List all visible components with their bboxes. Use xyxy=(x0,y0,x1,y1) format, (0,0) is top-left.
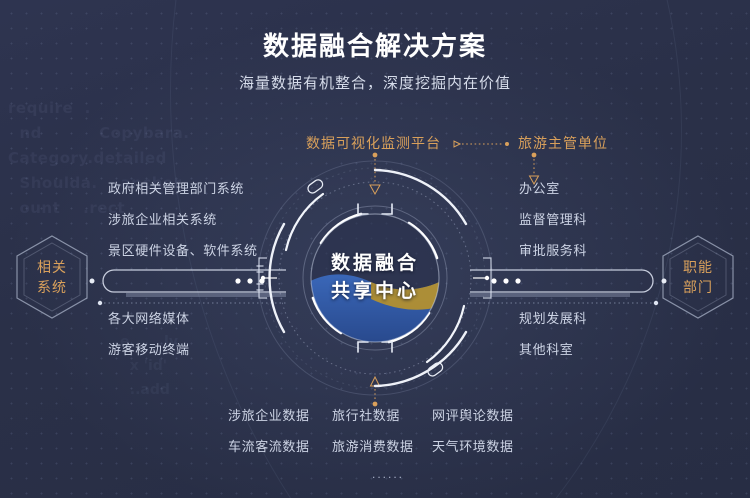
hexagon-functional-departments[interactable]: 职能 部门 xyxy=(660,234,736,320)
label-visualization-platform: 数据可视化监测平台 xyxy=(306,133,441,153)
data-row: 车流客流数据 旅游消费数据 天气环境数据 xyxy=(228,436,528,455)
right-departments-list-top: 办公室 监督管理科 审批服务科 xyxy=(519,178,587,271)
data-row: 涉旅企业数据 旅行社数据 网评舆论数据 xyxy=(228,405,528,424)
list-item: 其他科室 xyxy=(519,339,587,358)
left-systems-list-bottom: 各大网络媒体 游客移动终端 xyxy=(108,308,190,370)
right-departments-list-bottom: 规划发展科 其他科室 xyxy=(519,308,587,370)
data-cell: 车流客流数据 xyxy=(228,436,324,455)
list-item: 各大网络媒体 xyxy=(108,308,190,327)
infographic-canvas: require . nd Copybara. Category.detailed… xyxy=(0,0,750,498)
list-item: 规划发展科 xyxy=(519,308,587,327)
hexagon-left-line1: 相关 xyxy=(37,257,67,277)
data-ellipsis: ...... xyxy=(228,467,528,481)
hexagon-related-systems[interactable]: 相关 系统 xyxy=(14,234,90,320)
hub-label-line2: 共享中心 xyxy=(331,278,419,306)
label-tourism-authority: 旅游主管单位 xyxy=(518,133,608,153)
list-item: 政府相关管理部门系统 xyxy=(108,178,258,197)
hexagon-right-line1: 职能 xyxy=(683,257,713,277)
hexagon-left-line2: 系统 xyxy=(37,277,67,297)
hub-label-line1: 数据融合 xyxy=(331,250,419,278)
arrow-connector-icon xyxy=(450,139,512,149)
page-subtitle: 海量数据有机整合，深度挖掘内在价值 xyxy=(0,72,750,93)
hub-label: 数据融合 共享中心 xyxy=(255,158,495,398)
hexagon-left-text: 相关 系统 xyxy=(14,234,90,320)
data-cell: 天气环境数据 xyxy=(428,436,528,455)
data-cell: 涉旅企业数据 xyxy=(228,405,324,424)
list-item: 办公室 xyxy=(519,178,587,197)
data-cell: 网评舆论数据 xyxy=(428,405,528,424)
list-item: 游客移动终端 xyxy=(108,339,190,358)
hexagon-right-text: 职能 部门 xyxy=(660,234,736,320)
list-item: 监督管理科 xyxy=(519,209,587,228)
bottom-data-sources: 涉旅企业数据 旅行社数据 网评舆论数据 车流客流数据 旅游消费数据 天气环境数据… xyxy=(228,405,528,481)
list-item: 景区硬件设备、软件系统 xyxy=(108,240,258,259)
list-item: 审批服务科 xyxy=(519,240,587,259)
data-cell: 旅游消费数据 xyxy=(324,436,428,455)
page-title: 数据融合解决方案 xyxy=(0,26,750,63)
data-cell: 旅行社数据 xyxy=(324,405,428,424)
central-hub[interactable]: 数据融合 共享中心 xyxy=(255,158,495,398)
list-item: 涉旅企业相关系统 xyxy=(108,209,258,228)
hexagon-right-line2: 部门 xyxy=(683,277,713,297)
left-systems-list-top: 政府相关管理部门系统 涉旅企业相关系统 景区硬件设备、软件系统 xyxy=(108,178,258,271)
